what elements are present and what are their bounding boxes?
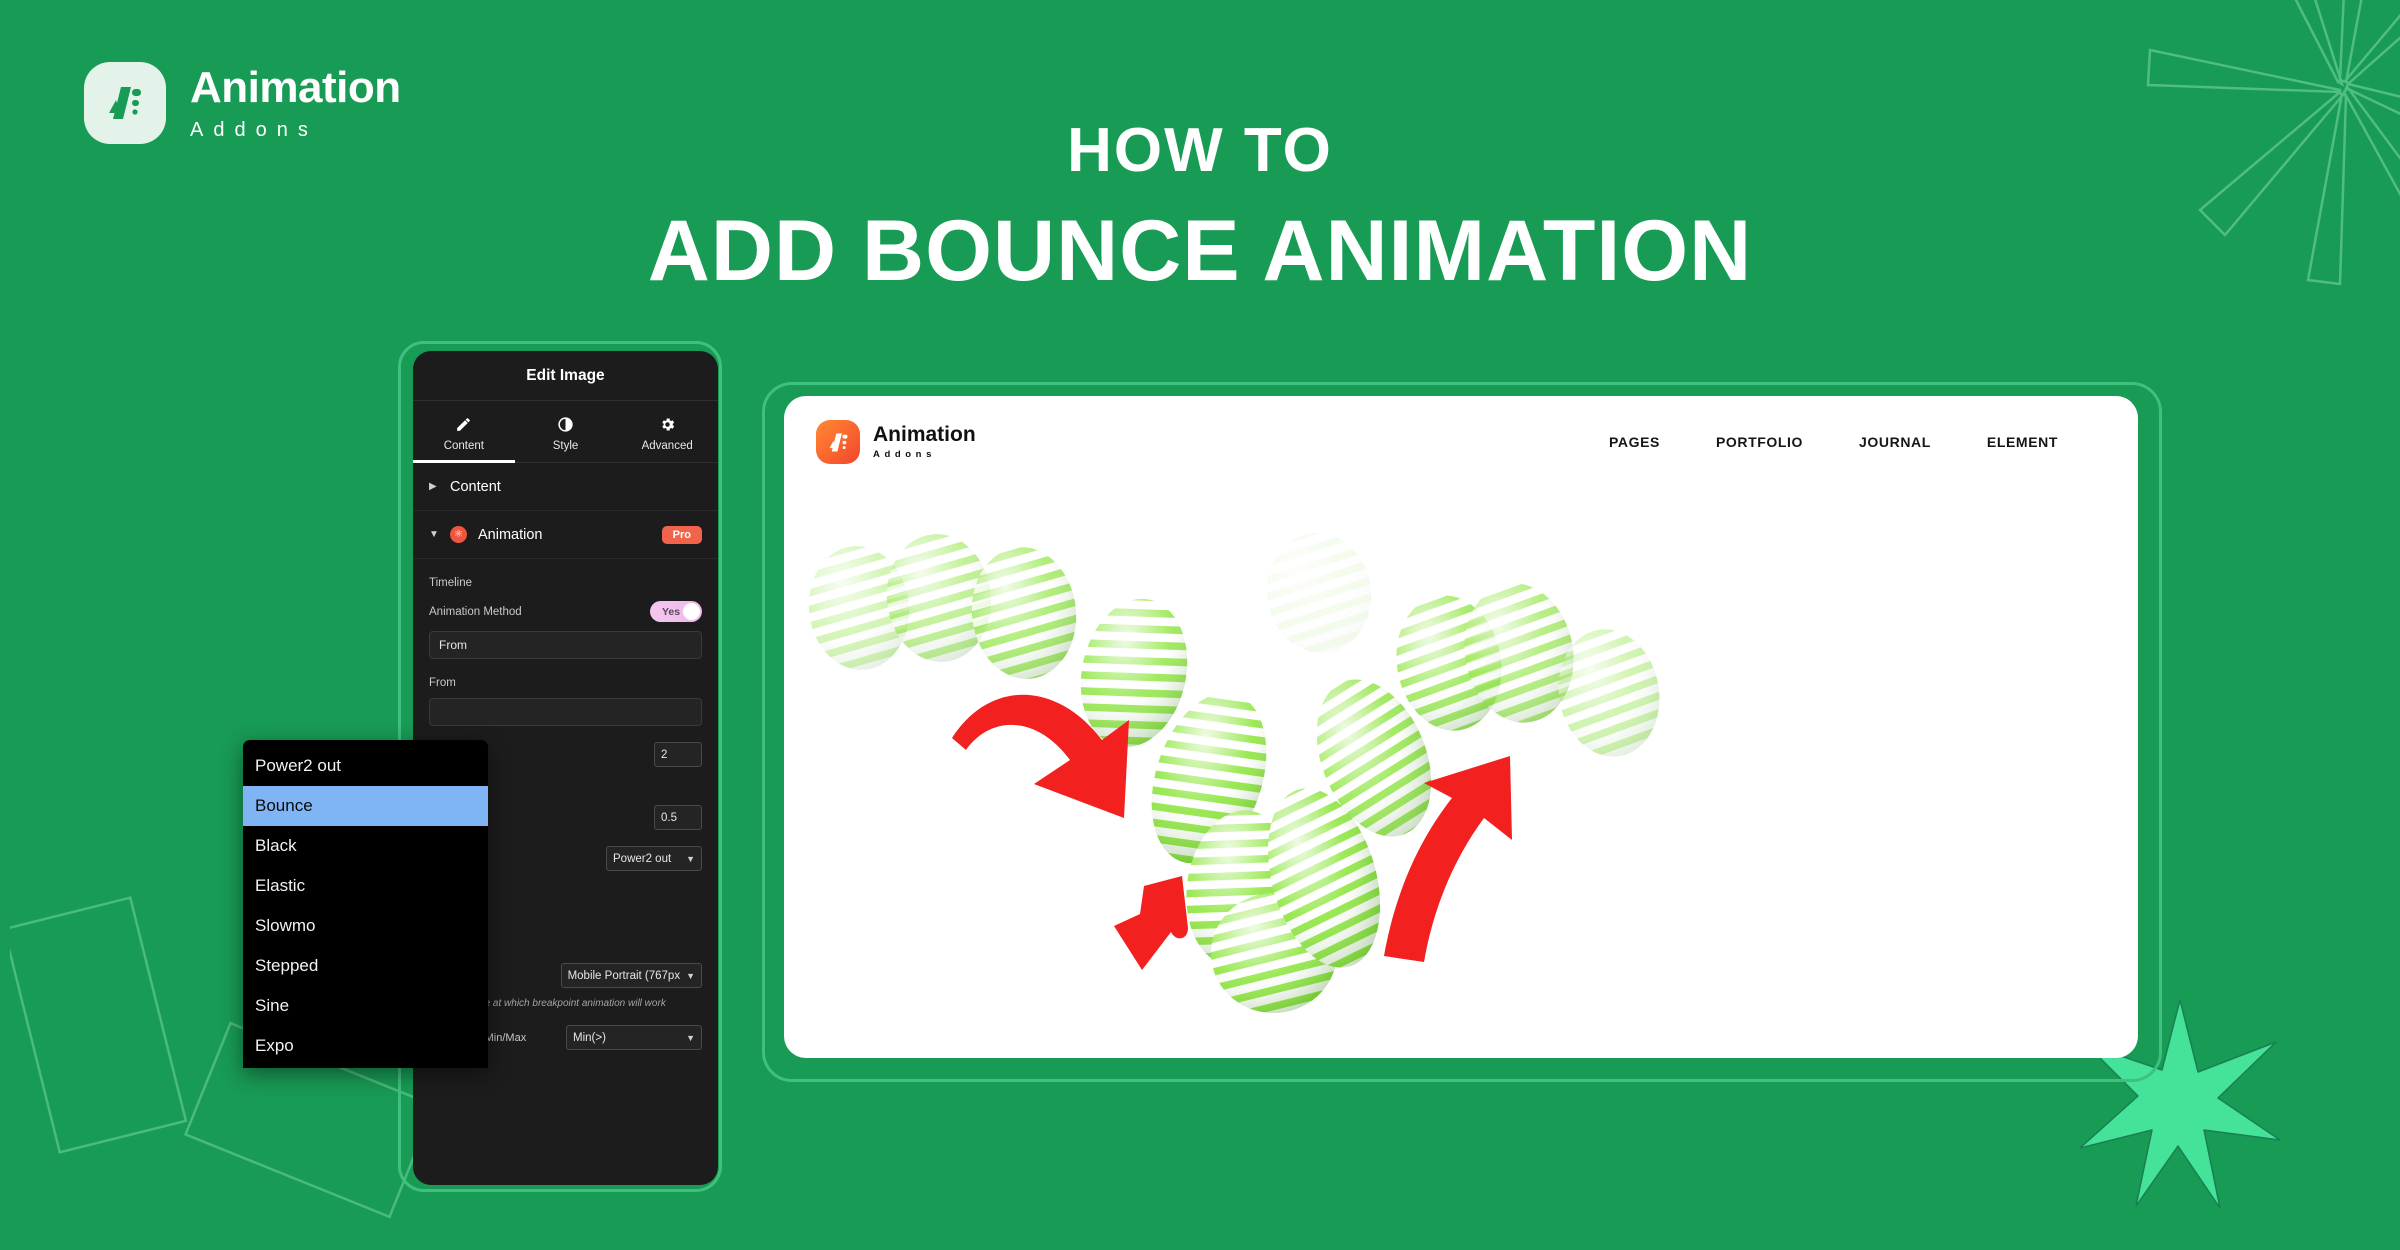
nav-link-portfolio[interactable]: PORTFOLIO [1716, 434, 1803, 450]
site-logo-title: Animation [873, 424, 976, 445]
animation-method-toggle[interactable]: Yes [650, 601, 702, 622]
animation-method-row: Animation Method Yes [429, 601, 702, 622]
bounce-animation-illustration [784, 488, 2138, 1058]
site-nav: PAGES PORTFOLIO JOURNAL ELEMENT [1609, 434, 2058, 450]
animation-method-toggle-label: Yes [662, 606, 680, 618]
pencil-icon [455, 416, 472, 433]
delay-input[interactable] [654, 805, 702, 830]
option-black[interactable]: Black [243, 826, 488, 866]
headline-line-2: ADD BOUNCE ANIMATION [0, 208, 2400, 294]
tab-style[interactable]: Style [515, 401, 617, 462]
toggle-knob [683, 603, 700, 620]
gear-icon [659, 416, 676, 433]
breakpoint-minmax-value: Min(>) [573, 1032, 680, 1044]
breakpoint-select[interactable]: Mobile Portrait (767px ▼ [561, 963, 702, 988]
site-header: Animation Addons PAGES PORTFOLIO JOURNAL… [784, 396, 2138, 488]
tab-content-label: Content [444, 440, 484, 452]
ball-trail [803, 526, 1670, 1017]
tab-style-label: Style [553, 440, 579, 452]
tab-content[interactable]: Content [413, 401, 515, 462]
duration-input[interactable] [654, 742, 702, 767]
headline-line-1: HOW TO [0, 120, 2400, 182]
panel-tabs: Content Style Advanced [413, 401, 718, 463]
section-animation[interactable]: ▼ ⚛ Animation Pro [413, 511, 718, 559]
easing-options-dropdown[interactable]: Power2 out Bounce Black Elastic Slowmo S… [243, 740, 488, 1068]
tab-advanced[interactable]: Advanced [616, 401, 718, 462]
page-title: HOW TO ADD BOUNCE ANIMATION [0, 120, 2400, 294]
section-content-label: Content [450, 479, 501, 495]
option-sine[interactable]: Sine [243, 986, 488, 1026]
option-expo[interactable]: Expo [243, 1026, 488, 1066]
tab-advanced-label: Advanced [642, 440, 693, 452]
chevron-down-icon: ▼ [686, 854, 695, 864]
option-bounce[interactable]: Bounce [243, 786, 488, 826]
chevron-down-icon: ▼ [429, 529, 439, 540]
option-stepped[interactable]: Stepped [243, 946, 488, 986]
easing-select-value: Power2 out [613, 853, 680, 865]
pro-badge: Pro [662, 526, 702, 544]
animation-method-label: Animation Method [429, 606, 522, 618]
brand-title: Animation [190, 66, 401, 110]
nav-link-journal[interactable]: JOURNAL [1859, 434, 1931, 450]
option-power2-out[interactable]: Power2 out [243, 746, 488, 786]
nav-link-element[interactable]: ELEMENT [1987, 434, 2058, 450]
method-input[interactable] [429, 631, 702, 659]
section-content[interactable]: ▶ Content [413, 463, 718, 511]
poster-canvas: Animation Addons HOW TO ADD BOUNCE ANIMA… [0, 0, 2400, 1250]
easing-select[interactable]: Power2 out ▼ [606, 846, 702, 871]
chevron-down-icon: ▼ [686, 1033, 695, 1043]
site-logo[interactable]: Animation Addons [816, 420, 976, 464]
animation-badge-icon: ⚛ [450, 526, 467, 543]
timeline-label: Timeline [429, 577, 702, 589]
animation-addons-glyph-icon [825, 429, 852, 456]
site-logo-subtitle: Addons [873, 450, 976, 460]
option-slowmo[interactable]: Slowmo [243, 906, 488, 946]
browser-preview-card: Animation Addons PAGES PORTFOLIO JOURNAL… [784, 396, 2138, 1058]
chevron-down-icon: ▼ [686, 971, 695, 981]
panel-title: Edit Image [413, 351, 718, 401]
breakpoint-minmax-select[interactable]: Min(>) ▼ [566, 1025, 702, 1050]
breakpoint-select-value: Mobile Portrait (767px [568, 970, 681, 982]
chevron-right-icon: ▶ [429, 481, 439, 492]
contrast-icon [557, 416, 574, 433]
section-animation-label: Animation [478, 527, 542, 543]
option-elastic[interactable]: Elastic [243, 866, 488, 906]
from-label: From [429, 677, 702, 689]
site-logo-mark-icon [816, 420, 860, 464]
nav-link-pages[interactable]: PAGES [1609, 434, 1660, 450]
from-input[interactable] [429, 698, 702, 726]
